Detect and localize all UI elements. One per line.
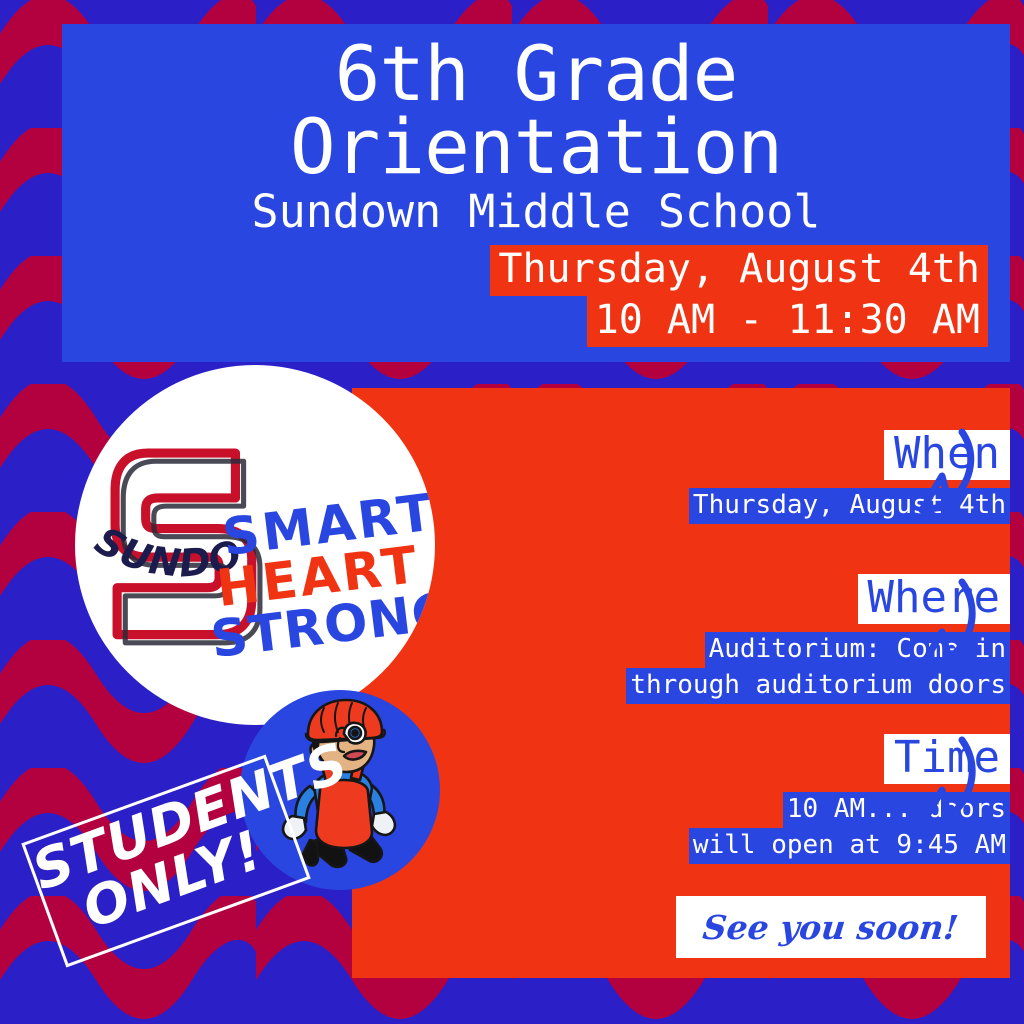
header-time-badge: 10 AM - 11:30 AM — [587, 296, 988, 347]
info-heading-time: Time — [884, 734, 1010, 784]
info-block-when: When Thursday, August 4th — [370, 430, 1010, 524]
info-line: Auditorium: Come in — [705, 632, 1010, 668]
info-lines-when: Thursday, August 4th — [370, 488, 1010, 524]
header-date-row: Thursday, August 4th — [80, 245, 988, 296]
header-panel: 6th Grade Orientation Sundown Middle Sch… — [62, 24, 1010, 362]
info-lines-time: 10 AM... doors will open at 9:45 AM — [370, 792, 1010, 864]
info-line: through auditorium doors — [626, 668, 1010, 704]
page-title: 6th Grade Orientation — [80, 38, 992, 184]
info-line: will open at 9:45 AM — [689, 828, 1010, 864]
info-line: Thursday, August 4th — [689, 488, 1010, 524]
closing-text: See you soon! — [701, 908, 960, 947]
info-block-time: Time 10 AM... doors will open at 9:45 AM — [370, 734, 1010, 864]
info-heading-when: When — [884, 430, 1010, 480]
info-heading-where: Where — [858, 574, 1010, 624]
header-badges: Thursday, August 4th 10 AM - 11:30 AM — [80, 245, 992, 347]
school-name: Sundown Middle School — [80, 188, 992, 235]
closing-message: See you soon! — [676, 896, 986, 958]
poster-canvas: 6th Grade Orientation Sundown Middle Sch… — [0, 0, 1024, 1024]
svg-text:SUNDOWN: SUNDOWN — [75, 365, 247, 586]
header-time-row: 10 AM - 11:30 AM — [80, 296, 988, 347]
info-line: 10 AM... doors — [783, 792, 1010, 828]
info-block-where: Where Auditorium: Come in through audito… — [370, 574, 1010, 704]
info-lines-where: Auditorium: Come in through auditorium d… — [370, 632, 1010, 704]
header-date-badge: Thursday, August 4th — [490, 245, 988, 296]
